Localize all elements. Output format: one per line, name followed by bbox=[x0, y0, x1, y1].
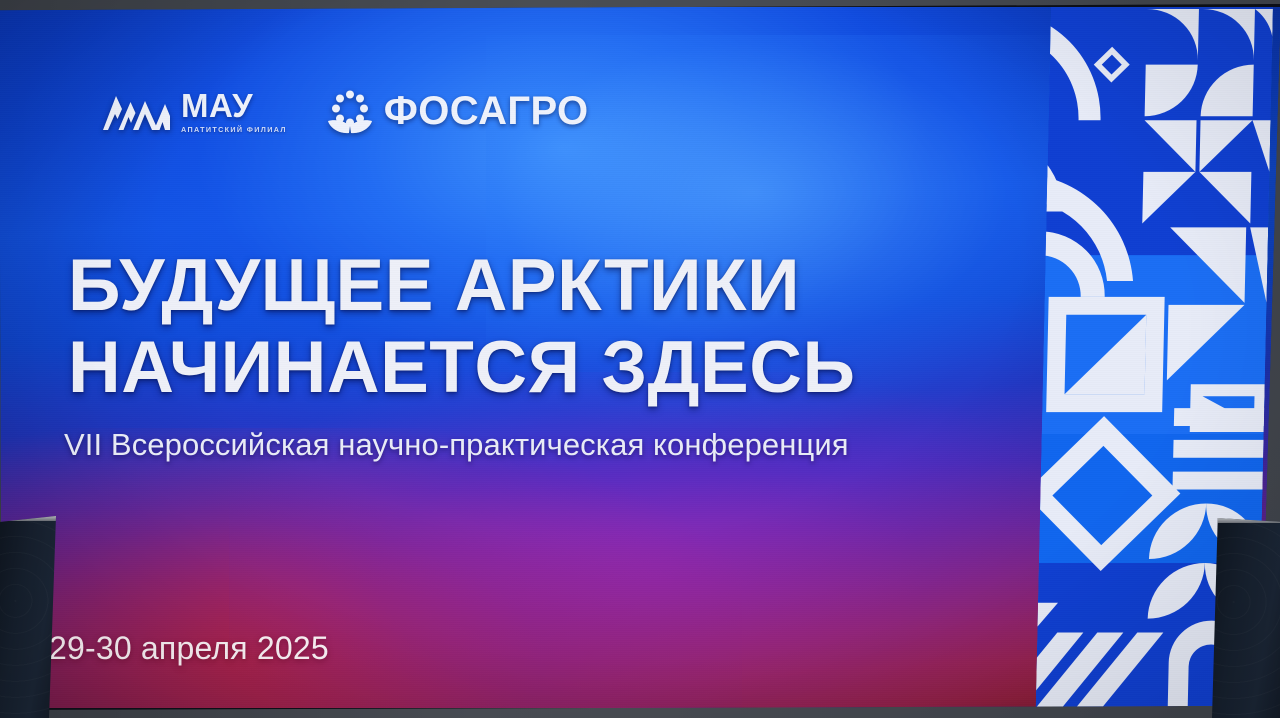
screen-surface: МАУ АПАТИТСКИЙ ФИЛИАЛ bbox=[0, 7, 1280, 708]
led-screen: МАУ АПАТИТСКИЙ ФИЛИАЛ bbox=[0, 4, 1280, 710]
speaker-column-right bbox=[1212, 518, 1280, 718]
speaker-column-left bbox=[0, 516, 56, 718]
screenshot-stage: МАУ АПАТИТСКИЙ ФИЛИАЛ bbox=[0, 0, 1280, 718]
led-scanline-texture bbox=[0, 7, 1280, 708]
